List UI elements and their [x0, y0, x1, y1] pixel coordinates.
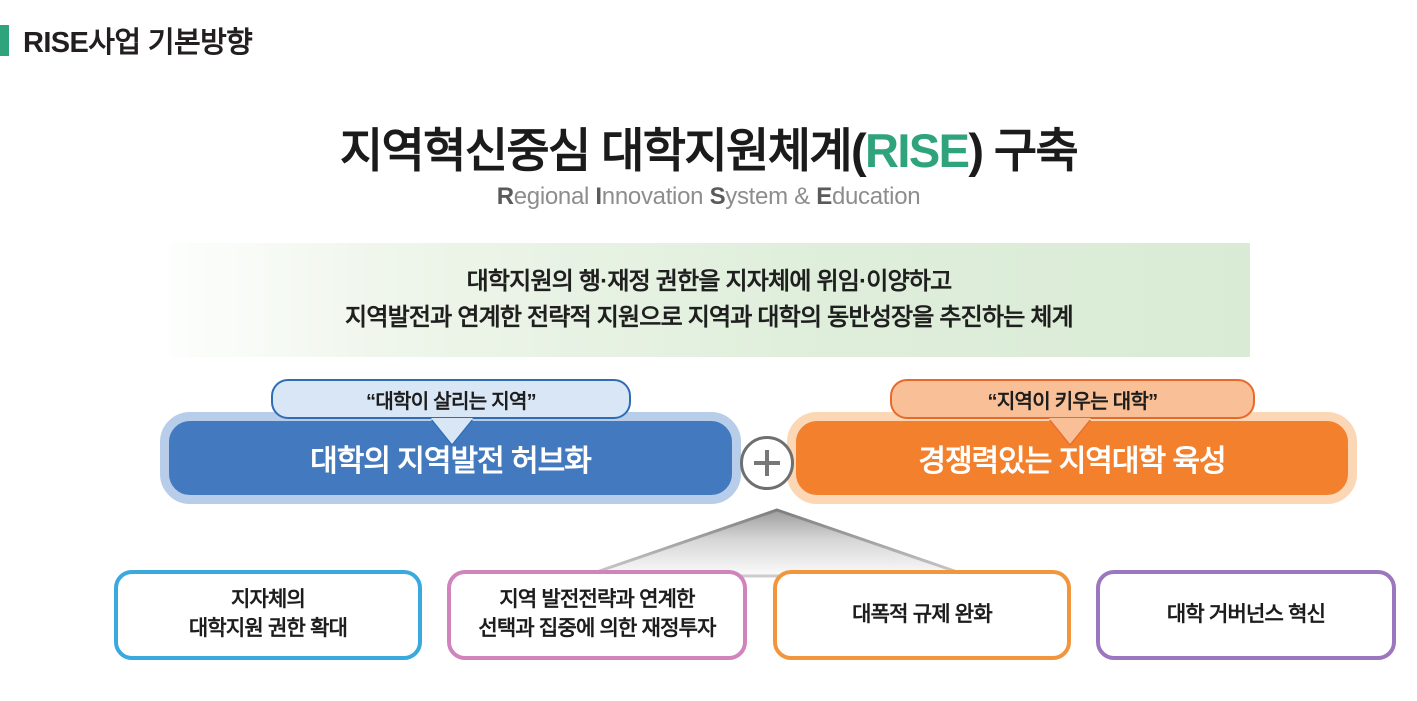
bottom-box-1-label: 지역 발전전략과 연계한 선택과 집중에 의한 재정투자: [478, 586, 715, 644]
bottom-box-3-label: 대학 거버넌스 혁신: [1167, 601, 1325, 630]
description-banner: 대학지원의 행·재정 권한을 지자체에 위임·이양하고 지역발전과 연계한 전략…: [168, 243, 1250, 357]
description-line-2: 지역발전과 연계한 전략적 지원으로 지역과 대학의 동반성장을 추진하는 체계: [345, 300, 1073, 336]
subtitle-word-innovation: nnovation: [602, 183, 710, 210]
subtitle-word-system: ystem &: [725, 183, 816, 210]
section-header: RISE사업 기본방향: [0, 22, 252, 58]
header-accent-bar: [0, 25, 9, 56]
subtitle-initial-s: S: [710, 183, 726, 210]
bottom-box-row: 지자체의 대학지원 권한 확대 지역 발전전략과 연계한 선택과 집중에 의한 …: [0, 570, 1417, 666]
subtitle-initial-e: E: [816, 183, 832, 210]
diagram-title-accent: RISE: [865, 124, 968, 177]
diagram-title-before: 지역혁신중심 대학지원체계(: [340, 124, 865, 177]
speech-bubble-left-tail: [431, 418, 473, 444]
bottom-box-2-label: 대폭적 규제 완화: [852, 601, 992, 630]
speech-bubble-right-label: “지역이 키우는 대학”: [988, 385, 1158, 414]
bottom-box-3: 대학 거버넌스 혁신: [1096, 570, 1396, 660]
speech-bubble-left-label: “대학이 살리는 지역”: [366, 385, 536, 414]
plus-icon: [740, 436, 794, 490]
bottom-box-1: 지역 발전전략과 연계한 선택과 집중에 의한 재정투자: [447, 570, 747, 660]
diagram-title-after: ) 구축: [968, 124, 1077, 177]
speech-bubble-left: “대학이 살리는 지역”: [271, 379, 631, 419]
chevron-down-icon: [583, 508, 971, 578]
page-title: RISE사업 기본방향: [23, 19, 252, 61]
bottom-box-0: 지자체의 대학지원 권한 확대: [114, 570, 422, 660]
diagram-title: 지역혁신중심 대학지원체계(RISE) 구축: [0, 112, 1417, 181]
speech-bubble-right: “지역이 키우는 대학”: [890, 379, 1255, 419]
bottom-box-0-label: 지자체의 대학지원 권한 확대: [189, 586, 347, 644]
subtitle-initial-r: R: [497, 183, 514, 210]
description-line-1: 대학지원의 행·재정 권한을 지자체에 위임·이양하고: [467, 264, 952, 300]
subtitle-word-regional: egional: [514, 183, 596, 210]
diagram-subtitle: Regional Innovation System & Education: [0, 183, 1417, 211]
speech-bubble-right-tail: [1049, 418, 1091, 444]
subtitle-word-education: ducation: [832, 183, 920, 210]
bottom-box-2: 대폭적 규제 완화: [773, 570, 1071, 660]
